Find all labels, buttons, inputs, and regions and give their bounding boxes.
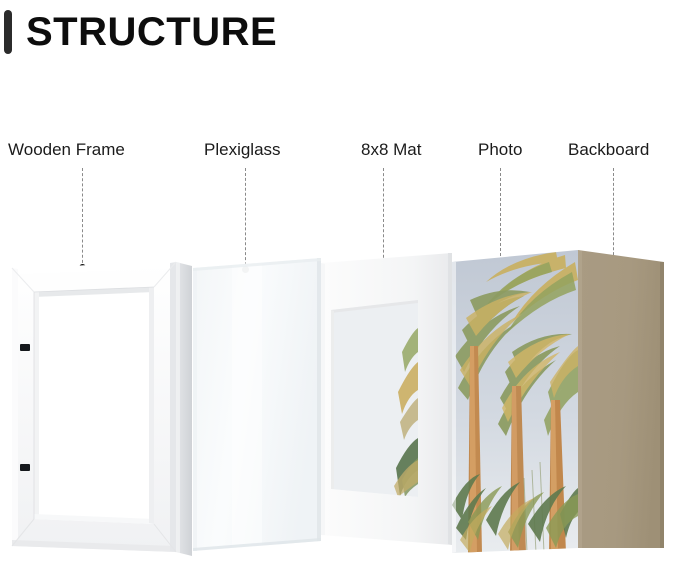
layer-wooden-frame <box>12 262 192 556</box>
layer-photo <box>452 250 578 553</box>
infographic-canvas: STRUCTURE Wooden Frame Plexiglass 8x8 Ma… <box>0 0 679 573</box>
layer-plexiglass <box>193 258 321 551</box>
hanging-clip-bottom <box>20 464 30 471</box>
exploded-layers <box>0 0 679 573</box>
hanging-clip-top <box>20 344 30 351</box>
layer-backboard <box>578 250 664 548</box>
layer-mat <box>321 253 452 545</box>
